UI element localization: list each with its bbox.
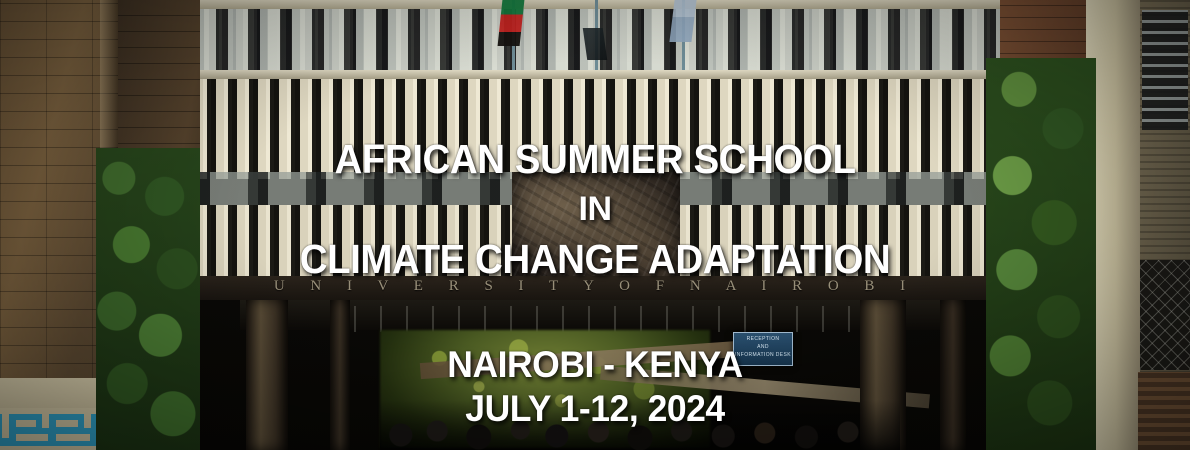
ceiling-beam-ribs: [330, 306, 870, 332]
right-climbing-hedge: [986, 58, 1096, 450]
stone-relief-sculpture: [512, 172, 680, 284]
right-louvre-window: [1142, 10, 1188, 130]
undercroft-column: [246, 300, 288, 450]
reception-sign-line-2: AND: [734, 343, 792, 351]
university-of-nairobi-lettering: U N I V E R S I T Y O F N A I R O B I: [190, 278, 1000, 295]
louvre-band-upper: [190, 79, 1000, 179]
reception-information-sign: RECEPTION AND INFORMATION DESK: [733, 332, 793, 366]
greek-key-meander-relief: [0, 408, 104, 450]
event-banner: U N I V E R S I T Y O F N A I R O B I RE…: [0, 0, 1190, 450]
crowd-silhouettes: [380, 400, 900, 450]
dark-flag: [583, 28, 607, 60]
right-window-grille: [1140, 260, 1190, 370]
undercroft-column: [940, 300, 966, 450]
undercroft-column: [330, 300, 350, 450]
left-climbing-hedge: [96, 148, 200, 450]
reception-sign-line-1: RECEPTION: [734, 335, 792, 343]
right-timber-louvres: [1138, 372, 1190, 450]
reception-sign-line-3: INFORMATION DESK: [734, 351, 792, 359]
facade-sill-band: [190, 70, 1000, 79]
